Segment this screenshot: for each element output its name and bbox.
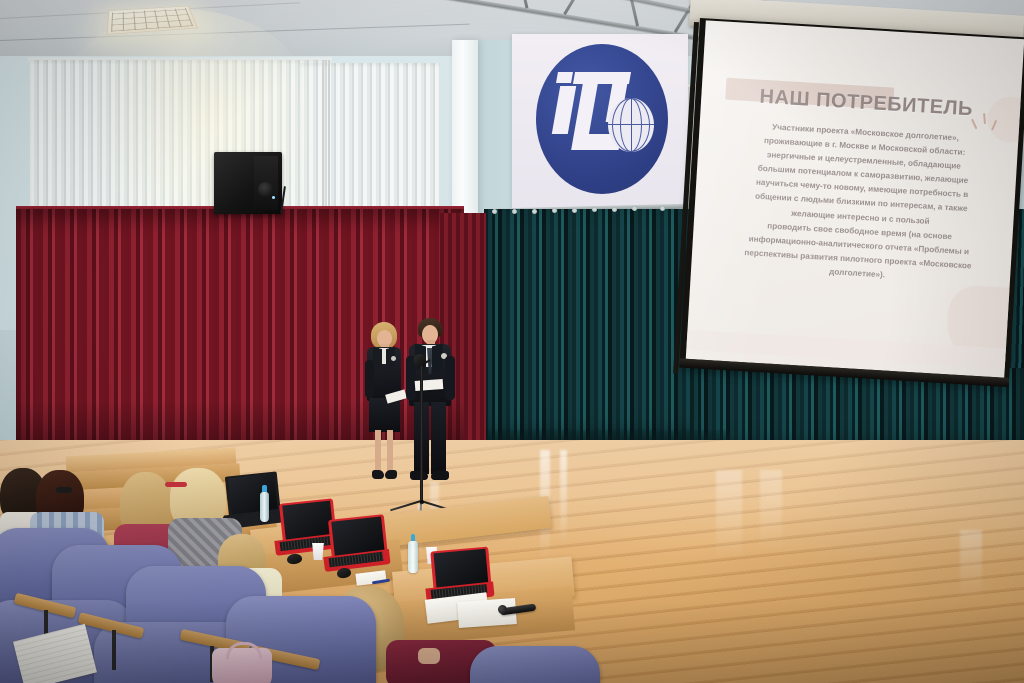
skirt xyxy=(369,398,400,432)
light-grid xyxy=(111,8,193,31)
held-papers xyxy=(415,379,444,391)
eyeglasses xyxy=(56,487,72,493)
shoe xyxy=(410,471,428,480)
eyeglasses xyxy=(165,482,187,487)
logo-globe-icon xyxy=(608,98,654,152)
hanging-cable xyxy=(322,60,324,210)
speaker-indicator-led xyxy=(272,196,275,199)
presentation-hall-photo: НАШ ПОТРЕБИТЕЛЬ Участники проекта «Моско… xyxy=(0,0,1024,683)
microphone-stand-pole[interactable] xyxy=(420,366,423,502)
floor-reflection xyxy=(560,450,567,545)
arm xyxy=(445,356,455,400)
leg xyxy=(375,430,381,472)
shoe xyxy=(372,470,384,479)
projection-screen: НАШ ПОТРЕБИТЕЛЬ Участники проекта «Моско… xyxy=(679,18,1024,387)
attendee-hand xyxy=(418,648,440,664)
teal-curtain-left xyxy=(484,209,708,449)
floor-reflection xyxy=(716,470,742,560)
auditorium-seat[interactable] xyxy=(470,646,600,683)
logo-letter-dot xyxy=(556,72,573,83)
lapel xyxy=(373,347,382,371)
water-bottle[interactable] xyxy=(408,541,418,573)
water-bottle[interactable] xyxy=(260,492,269,522)
slide-surface: НАШ ПОТРЕБИТЕЛЬ Участники проекта «Моско… xyxy=(686,20,1024,377)
speaker-driver xyxy=(258,182,273,197)
leg xyxy=(387,430,393,472)
floor-reflection xyxy=(760,470,782,550)
trouser-leg xyxy=(431,402,446,474)
pa-speaker xyxy=(214,152,282,214)
lapel-badge xyxy=(391,356,396,361)
shoe xyxy=(431,471,449,480)
floor-reflection xyxy=(960,530,982,600)
shoe xyxy=(385,470,397,479)
arm xyxy=(365,360,374,398)
slide-body: Участники проекта «Московское долголетие… xyxy=(709,117,1014,289)
hanging-cable xyxy=(328,60,330,210)
